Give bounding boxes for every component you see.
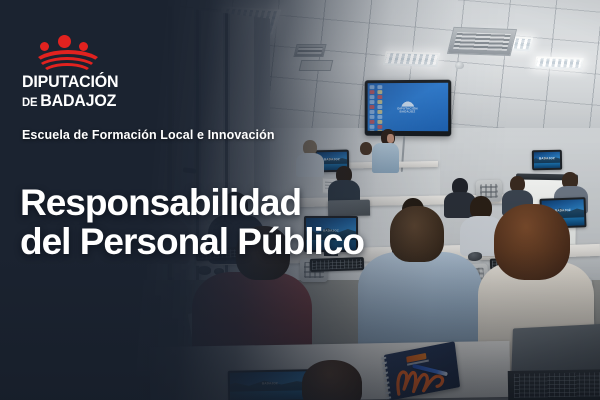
diputacion-badajoz-crown-emblem-icon xyxy=(28,33,100,67)
title-line-2: del Personal Público xyxy=(20,222,390,261)
logo-line-1: DIPUTACIÓN xyxy=(22,73,144,90)
banner-content: DIPUTACIÓN DE BADAJOZ Escuela de Formaci… xyxy=(0,0,600,400)
logo-line-2-prefix: DE xyxy=(22,95,40,109)
school-name-eyebrow: Escuela de Formación Local e Innovación xyxy=(22,128,275,142)
logo-line-2: DE BADAJOZ xyxy=(22,92,144,109)
page-title: Responsabilidad del Personal Público xyxy=(20,183,390,261)
title-line-1: Responsabilidad xyxy=(20,183,390,222)
organization-wordmark: DIPUTACIÓN DE BADAJOZ xyxy=(22,73,152,109)
organization-logo[interactable]: DIPUTACIÓN DE BADAJOZ xyxy=(22,33,152,109)
course-promo-banner: DIPUTACIÓN BADAJOZ BADAJOZ BADAJOZ xyxy=(0,0,600,400)
logo-line-2-main: BADAJOZ xyxy=(40,91,116,110)
